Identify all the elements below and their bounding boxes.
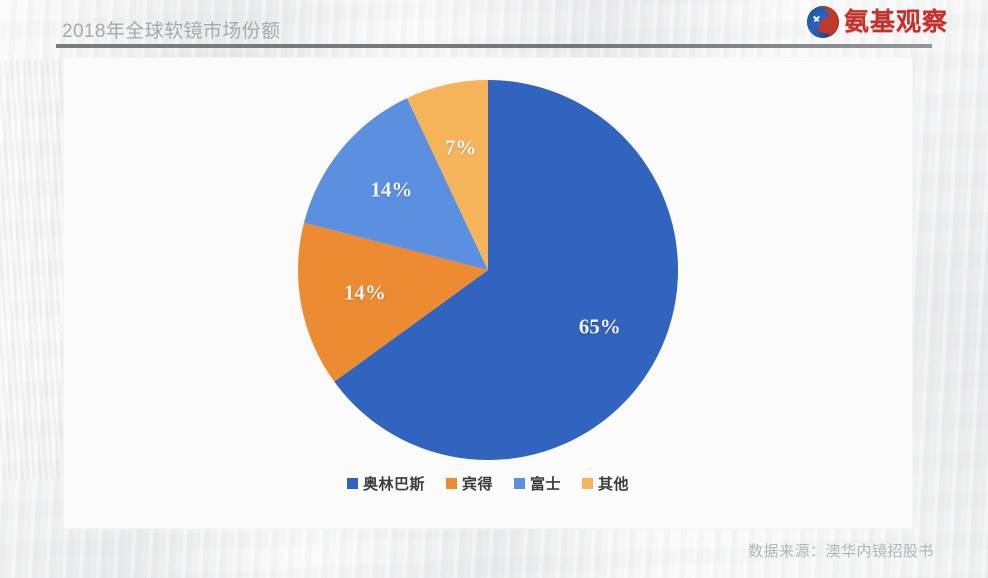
pie-chart: 65%14%14%7% <box>64 58 912 466</box>
pie-value-label-宾得: 14% <box>344 281 386 306</box>
header-divider <box>56 44 932 48</box>
chart-card: 65%14%14%7% 奥林巴斯宾得富士其他 <box>64 58 912 528</box>
pie-value-label-其他: 7% <box>445 135 477 160</box>
brand-logo: 氨基观察 <box>807 6 948 38</box>
legend-label: 其他 <box>598 473 629 494</box>
legend-item-奥林巴斯[interactable]: 奥林巴斯 <box>347 473 425 494</box>
legend-item-宾得[interactable]: 宾得 <box>446 473 493 494</box>
legend-swatch-icon <box>347 478 358 489</box>
page-title: 2018年全球软镜市场份额 <box>62 16 280 43</box>
background-texture-streaks <box>0 60 66 480</box>
chart-legend: 奥林巴斯宾得富士其他 <box>64 473 912 494</box>
legend-item-其他[interactable]: 其他 <box>582 473 629 494</box>
ammonia-swirl-logo-icon <box>807 6 839 38</box>
pie-svg <box>294 76 682 464</box>
legend-swatch-icon <box>514 478 525 489</box>
legend-label: 富士 <box>530 473 561 494</box>
pie-value-label-奥林巴斯: 65% <box>579 314 621 339</box>
pie-value-label-富士: 14% <box>370 178 412 203</box>
sparkle-icon <box>812 14 822 24</box>
legend-swatch-icon <box>582 478 593 489</box>
data-source-note: 数据来源：澳华内镜招股书 <box>748 540 934 561</box>
legend-item-富士[interactable]: 富士 <box>514 473 561 494</box>
legend-swatch-icon <box>446 478 457 489</box>
brand-name: 氨基观察 <box>844 6 948 38</box>
legend-label: 奥林巴斯 <box>363 473 425 494</box>
legend-label: 宾得 <box>462 473 493 494</box>
pie-canvas: 65%14%14%7% <box>294 76 682 464</box>
